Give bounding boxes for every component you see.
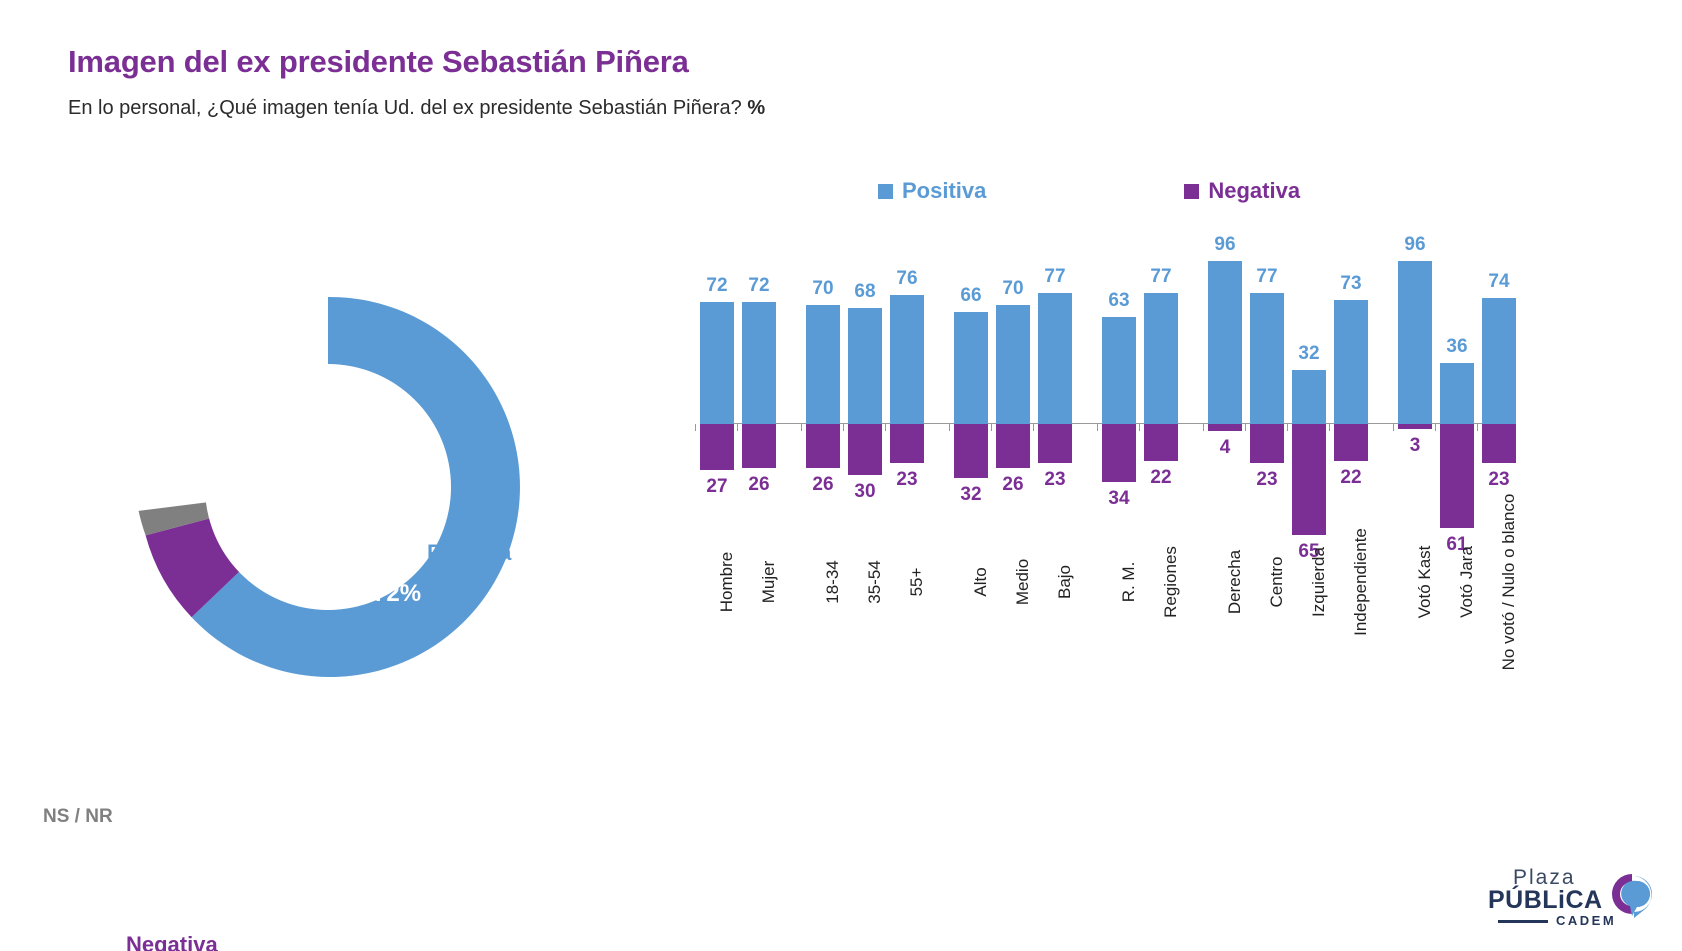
bar-negativa[interactable] bbox=[1482, 424, 1516, 463]
bar-positiva[interactable] bbox=[954, 312, 988, 424]
axis-tick bbox=[1287, 424, 1288, 431]
page-title: Imagen del ex presidente Sebastián Piñer… bbox=[68, 44, 689, 80]
bar-column[interactable]: 7722Regiones bbox=[1144, 230, 1178, 830]
slide-root: Imagen del ex presidente Sebastián Piñer… bbox=[0, 0, 1682, 951]
axis-tick bbox=[737, 424, 738, 431]
bar-value-negativa: 23 bbox=[1250, 470, 1284, 489]
bar-positiva[interactable] bbox=[1334, 300, 1368, 424]
category-label: Izquierda bbox=[1309, 547, 1329, 617]
axis-tick bbox=[1393, 424, 1394, 431]
bar-negativa[interactable] bbox=[1038, 424, 1072, 463]
category-label: Alto bbox=[971, 567, 991, 596]
legend-label-positiva: Positiva bbox=[902, 178, 986, 204]
bar-value-positiva: 72 bbox=[700, 276, 734, 295]
bar-positiva[interactable] bbox=[1144, 293, 1178, 424]
bar-negativa[interactable] bbox=[700, 424, 734, 470]
legend-swatch-icon-negativa bbox=[1184, 184, 1199, 199]
bar-negativa[interactable] bbox=[806, 424, 840, 468]
donut-label-positiva: Positiva bbox=[427, 540, 511, 566]
category-label: No votó / Nulo o blanco bbox=[1499, 494, 1519, 671]
bar-negativa[interactable] bbox=[1398, 424, 1432, 429]
logo-text-publica: PÚBLiCA bbox=[1488, 886, 1603, 915]
bar-groups: 7227Hombre7226Mujer702618-34683035-54762… bbox=[700, 230, 1524, 830]
bar-positiva[interactable] bbox=[890, 295, 924, 424]
bar-value-negativa: 22 bbox=[1144, 468, 1178, 487]
bar-group: 964Derecha7723Centro3265Izquierda7322Ind… bbox=[1208, 230, 1376, 830]
bar-positiva[interactable] bbox=[1482, 298, 1516, 424]
category-label: 55+ bbox=[907, 568, 927, 597]
axis-tick bbox=[843, 424, 844, 431]
bar-positiva[interactable] bbox=[700, 302, 734, 424]
bar-value-positiva: 77 bbox=[1038, 267, 1072, 286]
donut-label-negativa: Negativa bbox=[126, 932, 218, 951]
bar-value-negativa: 23 bbox=[1038, 470, 1072, 489]
bar-group: 7227Hombre7226Mujer bbox=[700, 230, 784, 830]
legend-item-positiva[interactable]: Positiva bbox=[878, 178, 986, 204]
bar-group: 963Votó Kast3661Votó Jara7423No votó / N… bbox=[1398, 230, 1524, 830]
bar-negativa[interactable] bbox=[1102, 424, 1136, 482]
category-label: Votó Jara bbox=[1457, 546, 1477, 618]
axis-tick bbox=[1329, 424, 1330, 431]
bar-column[interactable]: 7322Independiente bbox=[1334, 230, 1368, 830]
logo-rule bbox=[1498, 920, 1548, 923]
bar-negativa[interactable] bbox=[1250, 424, 1284, 463]
logo-mark-icon bbox=[1610, 872, 1654, 925]
bar-column[interactable]: 7226Mujer bbox=[742, 230, 776, 830]
bar-positiva[interactable] bbox=[806, 305, 840, 424]
bar-negativa[interactable] bbox=[1144, 424, 1178, 461]
legend-label-negativa: Negativa bbox=[1208, 178, 1300, 204]
bar-positiva[interactable] bbox=[1250, 293, 1284, 424]
category-label: Independiente bbox=[1351, 528, 1371, 636]
bar-group: 702618-34683035-54762355+ bbox=[806, 230, 932, 830]
logo-text-cadem: CADEM bbox=[1556, 913, 1616, 928]
category-label: R. M. bbox=[1119, 562, 1139, 603]
category-label: Centro bbox=[1267, 556, 1287, 607]
axis-tick bbox=[1097, 424, 1098, 431]
bar-column[interactable]: 7026Medio bbox=[996, 230, 1030, 830]
bar-negativa[interactable] bbox=[890, 424, 924, 463]
bar-negativa[interactable] bbox=[1292, 424, 1326, 535]
bar-value-positiva: 32 bbox=[1292, 344, 1326, 363]
axis-tick bbox=[1477, 424, 1478, 431]
bar-negativa[interactable] bbox=[954, 424, 988, 478]
donut-svg bbox=[118, 277, 538, 697]
donut-value-negativa: 26% bbox=[253, 894, 301, 922]
bar-value-negativa: 4 bbox=[1208, 438, 1242, 457]
bar-value-positiva: 76 bbox=[890, 269, 924, 288]
bar-value-positiva: 36 bbox=[1440, 337, 1474, 356]
bar-value-negativa: 22 bbox=[1334, 468, 1368, 487]
bar-value-negativa: 26 bbox=[742, 475, 776, 494]
bar-value-negativa: 30 bbox=[848, 482, 882, 501]
bar-value-negativa: 3 bbox=[1398, 436, 1432, 455]
bar-negativa[interactable] bbox=[848, 424, 882, 475]
category-label: Hombre bbox=[717, 552, 737, 612]
bar-positiva[interactable] bbox=[1292, 370, 1326, 424]
bar-column[interactable]: 702618-34 bbox=[806, 230, 840, 830]
bar-value-positiva: 77 bbox=[1250, 267, 1284, 286]
bar-positiva[interactable] bbox=[848, 308, 882, 424]
bar-column[interactable]: 7723Bajo bbox=[1038, 230, 1072, 830]
category-label: Votó Kast bbox=[1415, 546, 1435, 619]
bar-value-negativa: 27 bbox=[700, 477, 734, 496]
bar-value-positiva: 74 bbox=[1482, 272, 1516, 291]
axis-tick bbox=[1139, 424, 1140, 431]
category-label: Bajo bbox=[1055, 565, 1075, 599]
legend-swatch-icon-positiva bbox=[878, 184, 893, 199]
bar-positiva[interactable] bbox=[742, 302, 776, 424]
donut-value-nsnr: 2% bbox=[151, 795, 181, 819]
bar-column[interactable]: 6632Alto bbox=[954, 230, 988, 830]
donut-chart: Positiva 72% Negativa 26% NS / NR 2% bbox=[118, 277, 538, 697]
category-label: Regiones bbox=[1161, 546, 1181, 618]
bar-positiva[interactable] bbox=[1038, 293, 1072, 424]
bar-group: 6632Alto7026Medio7723Bajo bbox=[954, 230, 1080, 830]
bar-value-positiva: 77 bbox=[1144, 267, 1178, 286]
bar-negativa[interactable] bbox=[1208, 424, 1242, 431]
axis-tick bbox=[949, 424, 950, 431]
bar-value-negativa: 34 bbox=[1102, 489, 1136, 508]
category-label: Mujer bbox=[759, 561, 779, 604]
subtitle-unit: % bbox=[747, 97, 765, 119]
bar-column[interactable]: 7723Centro bbox=[1250, 230, 1284, 830]
subtitle-question: En lo personal, ¿Qué imagen tenía Ud. de… bbox=[68, 97, 747, 119]
axis-tick bbox=[991, 424, 992, 431]
bar-value-positiva: 72 bbox=[742, 276, 776, 295]
axis-tick bbox=[1435, 424, 1436, 431]
bar-column[interactable]: 3661Votó Jara bbox=[1440, 230, 1474, 830]
bar-value-negativa: 23 bbox=[1482, 470, 1516, 489]
bar-value-negativa: 26 bbox=[806, 475, 840, 494]
bar-value-positiva: 66 bbox=[954, 286, 988, 305]
bar-value-negativa: 23 bbox=[890, 470, 924, 489]
bar-negativa[interactable] bbox=[1440, 424, 1474, 528]
axis-tick bbox=[885, 424, 886, 431]
donut-hole bbox=[205, 364, 451, 610]
category-label: Derecha bbox=[1225, 550, 1245, 614]
axis-tick bbox=[1033, 424, 1034, 431]
bar-value-negativa: 26 bbox=[996, 475, 1030, 494]
bar-positiva[interactable] bbox=[996, 305, 1030, 424]
axis-tick bbox=[1203, 424, 1204, 431]
bar-negativa[interactable] bbox=[996, 424, 1030, 468]
bar-value-negativa: 32 bbox=[954, 485, 988, 504]
donut-value-positiva: 72% bbox=[373, 580, 421, 608]
bar-positiva[interactable] bbox=[1440, 363, 1474, 424]
category-label: 18-34 bbox=[823, 560, 843, 603]
bar-column[interactable]: 964Derecha bbox=[1208, 230, 1242, 830]
bar-chart: 7227Hombre7226Mujer702618-34683035-54762… bbox=[700, 230, 1500, 830]
chart-legend: Positiva Negativa bbox=[878, 178, 1300, 204]
bar-value-positiva: 68 bbox=[848, 282, 882, 301]
axis-tick bbox=[1245, 424, 1246, 431]
bar-value-positiva: 63 bbox=[1102, 291, 1136, 310]
bar-negativa[interactable] bbox=[742, 424, 776, 468]
bar-column[interactable]: 762355+ bbox=[890, 230, 924, 830]
bar-column[interactable]: 683035-54 bbox=[848, 230, 882, 830]
donut-label-nsnr: NS / NR bbox=[43, 806, 113, 828]
bar-value-positiva: 70 bbox=[806, 279, 840, 298]
bar-column[interactable]: 3265Izquierda bbox=[1292, 230, 1326, 830]
bar-positiva[interactable] bbox=[1208, 261, 1242, 424]
bar-positiva[interactable] bbox=[1102, 317, 1136, 424]
bar-group: 6334R. M.7722Regiones bbox=[1102, 230, 1186, 830]
bar-value-positiva: 70 bbox=[996, 279, 1030, 298]
category-label: Medio bbox=[1013, 559, 1033, 605]
bar-column[interactable]: 7227Hombre bbox=[700, 230, 734, 830]
bar-value-positiva: 73 bbox=[1334, 274, 1368, 293]
bar-column[interactable]: 6334R. M. bbox=[1102, 230, 1136, 830]
axis-tick bbox=[801, 424, 802, 431]
brand-logo: Plaza PÚBLiCA CADEM bbox=[1488, 866, 1648, 928]
bar-value-positiva: 96 bbox=[1398, 235, 1432, 254]
legend-item-negativa[interactable]: Negativa bbox=[1184, 178, 1300, 204]
bar-value-positiva: 96 bbox=[1208, 235, 1242, 254]
bar-negativa[interactable] bbox=[1334, 424, 1368, 461]
bar-positiva[interactable] bbox=[1398, 261, 1432, 424]
axis-tick bbox=[695, 424, 696, 431]
category-label: 35-54 bbox=[865, 560, 885, 603]
page-subtitle: En lo personal, ¿Qué imagen tenía Ud. de… bbox=[68, 97, 765, 120]
bar-column[interactable]: 963Votó Kast bbox=[1398, 230, 1432, 830]
bar-column[interactable]: 7423No votó / Nulo o blanco bbox=[1482, 230, 1516, 830]
